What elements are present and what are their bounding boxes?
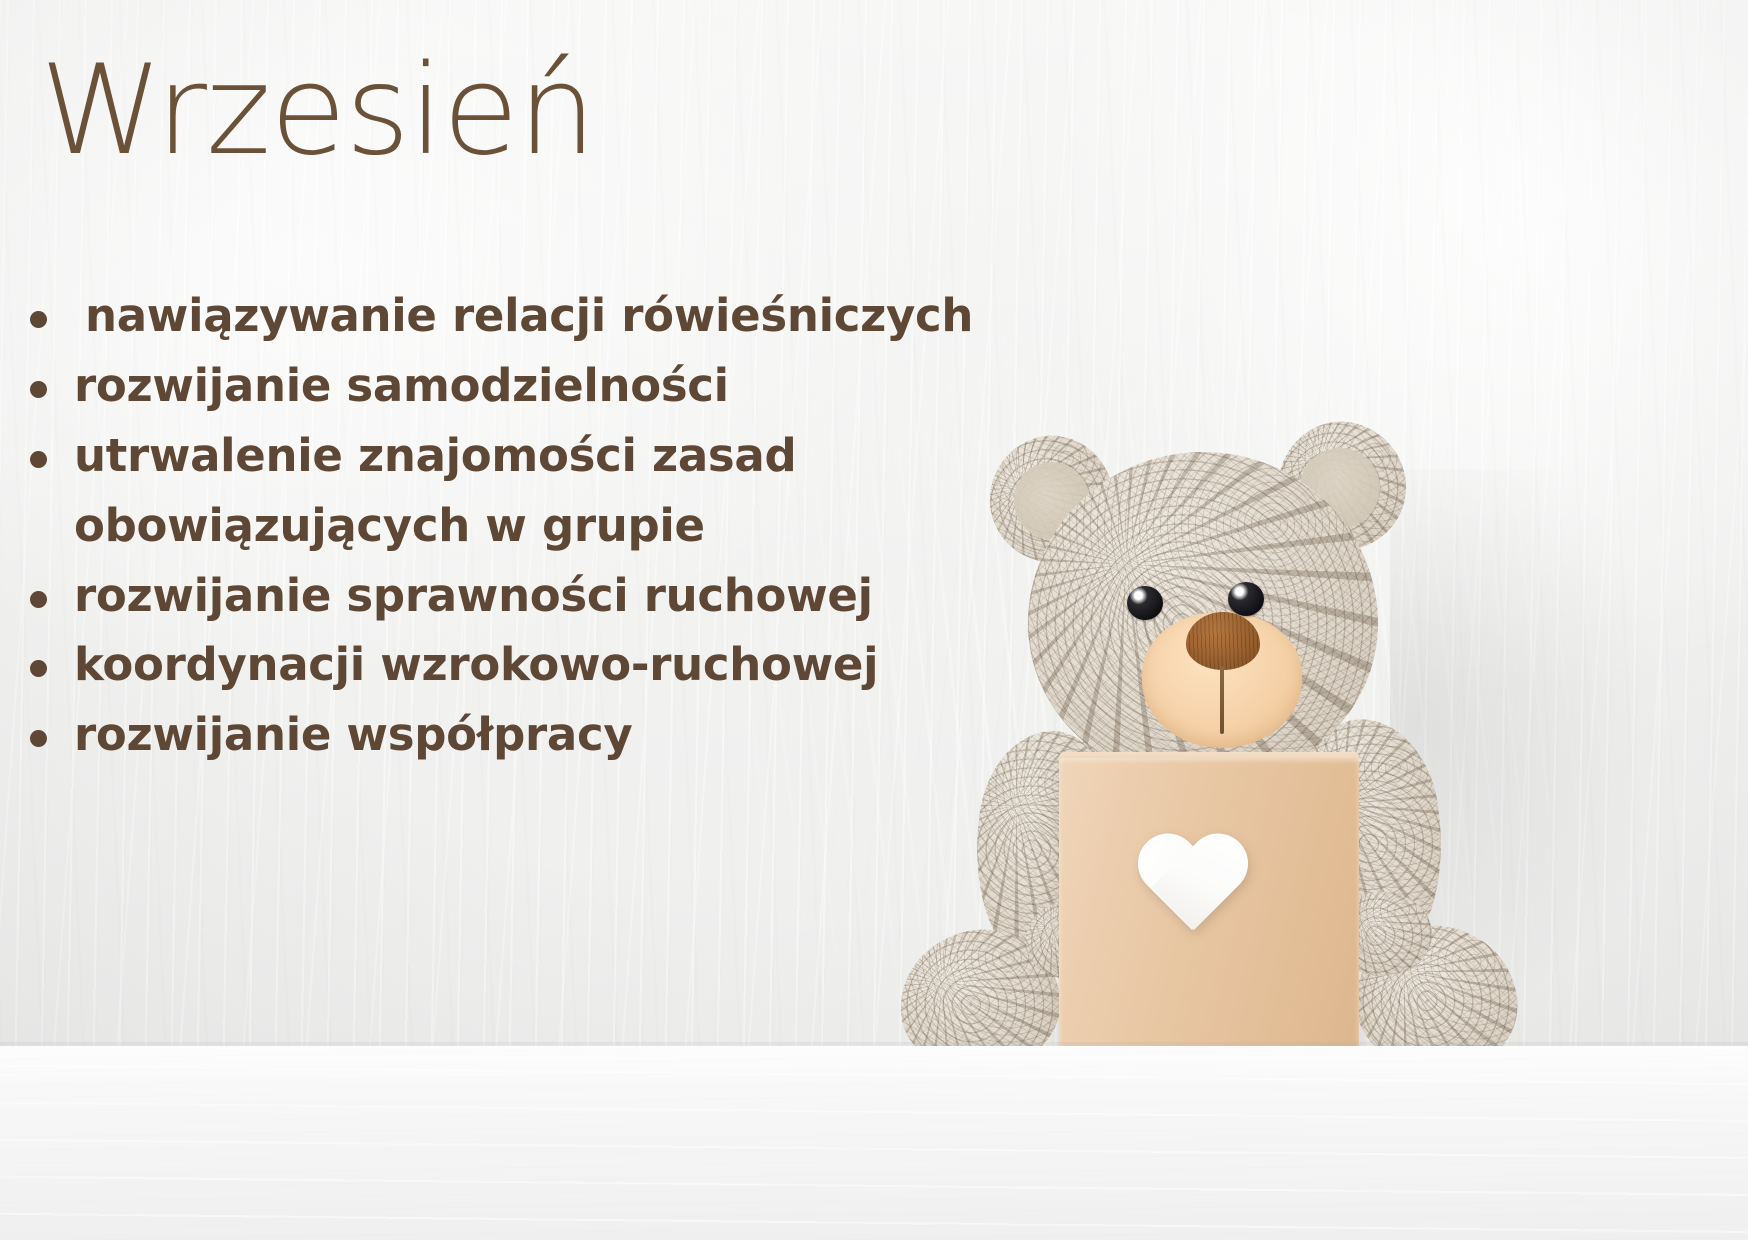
bear-mouth	[1220, 666, 1224, 734]
bullet-dot-icon	[30, 381, 47, 398]
heart-icon	[1134, 836, 1250, 940]
bear-left-eye	[1127, 586, 1163, 620]
list-item-label: utrwalenie znajomości zasad	[74, 424, 796, 488]
list-item-label: obowiązujących w grupie	[74, 494, 705, 558]
bullet-dot-icon	[30, 451, 47, 468]
list-item-label: koordynacji wzrokowo-ruchowej	[74, 633, 878, 697]
bullet-dot-icon	[30, 311, 47, 328]
list-item-continuation: obowiązujących w grupie	[30, 494, 1040, 558]
list-item: utrwalenie znajomości zasad	[30, 424, 1040, 488]
list-item-label: rozwijanie sprawności ruchowej	[74, 564, 873, 628]
list-item-label: rozwijanie samodzielności	[74, 354, 729, 418]
bear-right-eye	[1228, 582, 1264, 616]
list-item: koordynacji wzrokowo-ruchowej	[30, 633, 1040, 697]
bear-nose	[1186, 612, 1260, 670]
objectives-list: nawiązywanie relacji rówieśniczych rozwi…	[30, 284, 1040, 773]
bullet-dot-icon	[30, 660, 47, 677]
floor-wood-grain	[0, 1046, 1748, 1240]
poster-slide: Wrzesień nawiązywanie relacji rówieśnicz…	[0, 0, 1748, 1240]
page-title: Wrzesień	[40, 46, 595, 177]
list-item: nawiązywanie relacji rówieśniczych	[30, 284, 1040, 348]
bullet-dot-icon	[30, 730, 47, 747]
bullet-dot-icon	[30, 591, 47, 608]
list-item: rozwijanie samodzielności	[30, 354, 1040, 418]
list-item-label: rozwijanie współpracy	[74, 703, 632, 767]
list-item: rozwijanie współpracy	[30, 703, 1040, 767]
list-item: rozwijanie sprawności ruchowej	[30, 564, 1040, 628]
list-item-label: nawiązywanie relacji rówieśniczych	[74, 284, 973, 348]
